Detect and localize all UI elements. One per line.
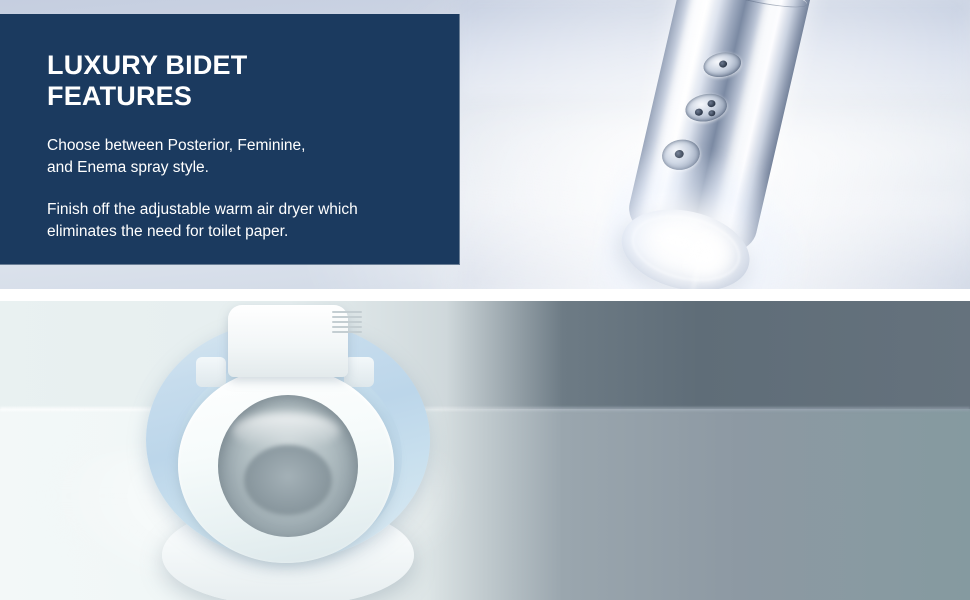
nozzle-port [708, 110, 716, 117]
nozzle-port [674, 149, 684, 159]
top-panel-paragraph-2: Finish off the adjustable warm air dryer… [47, 199, 425, 243]
luxury-bidet-features-panel: LUXURY BIDET FEATURES Choose between Pos… [0, 14, 460, 265]
smart-toilet-image [140, 305, 430, 600]
top-panel-paragraph-1-line-2: and Enema spray style. [47, 159, 209, 176]
top-panel-headline-line-2: FEATURES [47, 81, 192, 111]
top-section: LUXURY BIDET FEATURES Choose between Pos… [0, 0, 970, 291]
top-panel-headline: LUXURY BIDET FEATURES [47, 50, 425, 113]
bottom-section: EXPANDED COMFORT HEATED SEAT Offers addi… [0, 301, 970, 600]
top-panel-paragraph-1: Choose between Posterior, Feminine, and … [47, 135, 425, 179]
section-divider [0, 289, 970, 301]
toilet-hinge-right [344, 357, 374, 387]
top-panel-paragraph-2-line-2: eliminates the need for toilet paper. [47, 223, 288, 240]
wand-lens-flare [672, 220, 744, 291]
top-panel-paragraph-2-line-1: Finish off the adjustable warm air dryer… [47, 201, 358, 218]
toilet-bowl-water [244, 445, 332, 515]
nozzle-port [707, 99, 716, 107]
nozzle-port [719, 60, 728, 68]
product-feature-banner: LUXURY BIDET FEATURES Choose between Pos… [0, 0, 970, 600]
toilet-bowl-highlight [232, 413, 340, 449]
toilet-control-housing [228, 305, 348, 377]
nozzle-port [694, 108, 703, 116]
vent-grille-icon [332, 311, 362, 333]
top-panel-paragraph-1-line-1: Choose between Posterior, Feminine, [47, 137, 305, 154]
top-panel-headline-line-1: LUXURY BIDET [47, 50, 247, 80]
toilet-hinge-left [196, 357, 226, 387]
